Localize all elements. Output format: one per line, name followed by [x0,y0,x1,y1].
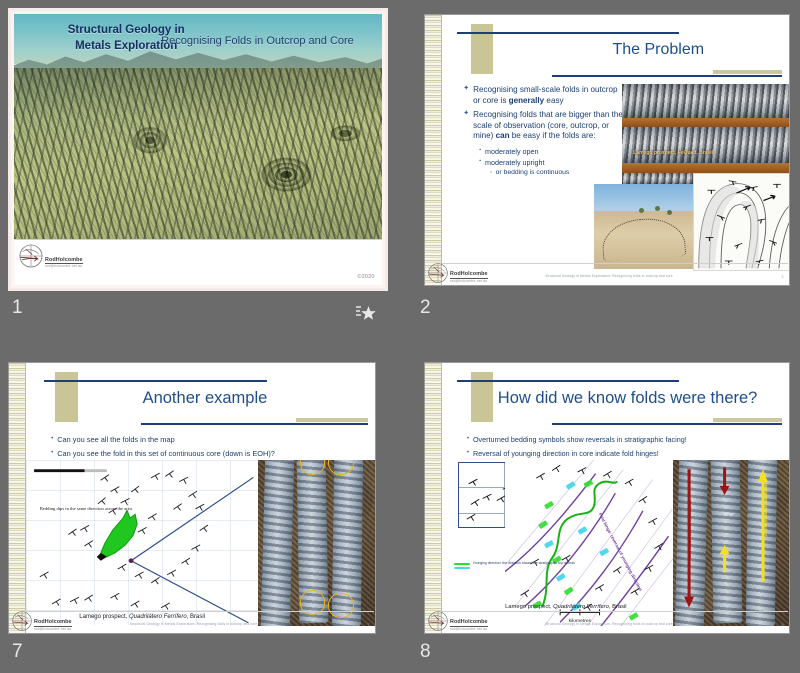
slide-2-content: The Problem ✦ Recognising small-scale fo… [425,15,789,285]
slide-cell-8[interactable]: How did we know folds were there? • Over… [424,362,796,662]
slide-title: The Problem [612,41,704,59]
slide-1-footer: RodHolcombe rod@holcombe.net.au ©2020 [14,239,382,285]
bullet-marker-dot: • [490,169,491,175]
bullet-item: • Can you see the fold in this set of co… [51,449,351,458]
slide-footer-number: 2 [782,275,784,279]
bullet-list: ✦ Recognising small-scale folds in outcr… [463,85,623,176]
bullet-text: moderately open [485,147,539,156]
footer-divider [442,611,788,612]
legend-text: Younging direction: the direction toward… [473,561,584,566]
bullet-text: Overturned bedding symbols show reversal… [473,435,687,444]
core-tray-edge [622,118,789,127]
bullet-item: • or bedding is continuous [490,169,623,176]
rodholcombe-logo: RodHolcombe rod@holcombe.net.au [18,243,83,269]
bullet-text: Recognising folds that are bigger than t… [473,110,623,142]
bullet-marker-square: ▪ [479,147,481,154]
slide-number-8: 8 [420,642,431,661]
slide-sorter-view: Structural Geology in Metals Exploration… [0,0,800,673]
core-photo-caption: Lamego prospect, FeQuad, Brasil [633,150,713,156]
slide-cell-1[interactable]: Structural Geology in Metals Exploration… [8,8,388,328]
folded-strata-ridge [14,68,382,240]
slide-thumbnail-2[interactable]: The Problem ✦ Recognising small-scale fo… [424,14,790,286]
bullet-text: Can you see the fold in this set of cont… [57,449,275,458]
bullet-list: • Can you see all the folds in the map •… [51,435,351,460]
bullet-text: Can you see all the folds in the map [57,435,175,444]
core-tray-row [622,84,789,118]
title-top-rule [44,380,267,382]
slide-cell-2[interactable]: The Problem ✦ Recognising small-scale fo… [424,14,796,328]
drill-core-closeup-photo [258,460,375,626]
bullet-text: Reversal of younging direction in core i… [473,449,659,458]
fold-diagram-svg [694,174,789,270]
slide-title: How did we know folds were there? [498,389,758,408]
logo-author-name: RodHolcombe [450,619,488,626]
bullet-item: • Reversal of younging direction in core… [467,449,773,458]
bullet-marker-dot: • [467,435,469,443]
bullet-item: ▪ moderately open [479,147,623,156]
copyright-notice: ©2020 [357,274,374,280]
core-rod [260,460,294,626]
bullet-text: moderately upright [485,158,545,167]
map-annotation-note: Bedding dips in the same direction acros… [40,506,161,512]
structural-map: Bedding dips in the same direction acros… [26,460,258,625]
outcrop-fold-photo [594,184,692,269]
legend-swatch-cyan [454,567,470,569]
slide-number-7: 7 [12,642,23,661]
title-bottom-tan-rule [713,70,782,74]
drill-core-closeup-photo: stratigraphic younging down-core stratig… [673,460,789,626]
logo-email: rod@holcombe.net.au [450,279,488,283]
slide-8-content: How did we know folds were there? • Over… [425,363,789,633]
stereonet-logo-icon [427,610,449,632]
title-bottom-rule [141,423,368,425]
map-caption-prefix: Lamego prospect, [505,604,553,610]
bullet-text: Recognising small-scale folds in outcrop… [473,85,623,106]
logo-author-name: RodHolcombe [34,619,72,626]
map-caption-region: Quadrilátero Ferrífero [553,604,609,610]
logo-email: rod@holcombe.net.au [45,264,83,268]
core-tray-edge [622,163,789,173]
presentation-subtitle: Recognising Folds in Outcrop and Core [161,34,374,48]
title-top-rule [457,380,679,382]
logo-text: RodHolcombe rod@holcombe.net.au [45,257,83,270]
footer-divider [442,263,788,264]
map-caption-suffix: , Brasil [187,614,205,620]
slide-number-1: 1 [12,298,23,317]
bullet-marker-dot: • [51,449,53,457]
slide-transition-star-icon[interactable] [356,305,376,321]
bullet-marker-dot: • [467,449,469,457]
bullet-marker-diamond: ✦ [463,110,469,119]
stereonet-logo-icon [11,610,33,632]
slide-thumbnail-1[interactable]: Structural Geology in Metals Exploration… [8,8,388,291]
bullet-marker-dot: • [51,435,53,443]
map-caption: Lamego prospect, Quadrilátero Ferrífero,… [505,604,626,610]
left-stripe-decoration [425,363,442,633]
bullet-item: ▪ moderately upright [479,158,623,167]
bullet-marker-square: ▪ [479,158,481,165]
structural-map: kilometres Fold hinge: reversal of young… [505,460,672,626]
slide-thumbnail-8[interactable]: How did we know folds were there? • Over… [424,362,790,634]
logo-author-name: RodHolcombe [45,257,83,264]
map-symbols-svg [26,460,258,625]
slide-cell-7[interactable]: Another example • Can you see all the fo… [8,362,388,662]
fold-map-line-diagram [693,173,789,271]
bullet-list: • Overturned bedding symbols show revers… [467,435,773,460]
bullet-item: ✦ Recognising small-scale folds in outcr… [463,85,623,106]
logo-text: RodHolcombe rod@holcombe.net.au [450,271,488,284]
map-legend: Younging direction: the direction toward… [454,563,512,569]
legend-swatch-green [454,563,470,565]
slide-1-content: Structural Geology in Metals Exploration… [14,14,382,285]
slide-title: Another example [143,389,268,408]
map-caption-prefix: Lamego prospect, [79,614,129,620]
rodholcombe-logo: RodHolcombe rod@holcombe.net.au [11,610,72,632]
logo-text: RodHolcombe rod@holcombe.net.au [34,619,72,632]
slide-7-content: Another example • Can you see all the fo… [9,363,375,633]
stereonet-logo-icon [18,243,44,269]
core-tray-row [622,127,789,163]
map-caption-region: Quadrilátero Ferrífero [129,614,187,620]
rodholcombe-logo: RodHolcombe rod@holcombe.net.au [427,610,488,632]
bullet-item: ✦ Recognising folds that are bigger than… [463,110,623,142]
slide-number-2: 2 [420,298,431,317]
left-stripe-decoration [9,363,26,633]
left-stripe-decoration [425,15,442,285]
slide-footer-number: 8 [782,623,784,627]
bullet-item: • Overturned bedding symbols show revers… [467,435,773,444]
hinge-label: Hinge [724,512,735,516]
logo-email: rod@holcombe.net.au [450,627,488,631]
logo-text: RodHolcombe rod@holcombe.net.au [450,619,488,632]
bullet-text: or bedding is continuous [496,169,570,176]
logo-email: rod@holcombe.net.au [34,627,72,631]
slide-footer-number: 7 [368,623,370,627]
stereonet-logo-icon [427,262,449,284]
map-symbols-svg: kilometres [505,460,672,626]
red-arrow-label: stratigraphic younging down-core [688,500,692,558]
title-bottom-rule [552,423,781,425]
title-bottom-rule [552,75,781,77]
bullet-marker-diamond: ✦ [463,85,469,94]
map-caption-suffix: , Brasil [609,604,627,610]
map-caption: Lamego prospect, Quadrilátero Ferrífero,… [79,614,205,620]
yellow-arrow-label: stratigraphic younging up-core [764,483,768,536]
logo-author-name: RodHolcombe [450,271,488,278]
drill-core-tray-photo: Lamego prospect, FeQuad, Brasil [622,84,789,184]
fold-hinge-annotation-loop [328,593,353,618]
rodholcombe-logo: RodHolcombe rod@holcombe.net.au [427,262,488,284]
slide-thumbnail-7[interactable]: Another example • Can you see all the fo… [8,362,376,634]
title-top-rule [457,32,679,34]
bullet-item: • Can you see all the folds in the map [51,435,351,444]
title-bottom-tan-rule [296,418,367,422]
footer-divider [26,611,374,612]
slide-footer-text: Structural Geology in Metals Exploration… [545,274,673,278]
title-bottom-tan-rule [713,418,782,422]
slide-footer-text: Structural Geology in Metals Exploration… [545,622,673,626]
slide-footer-text: Structural Geology in Metals Exploration… [130,622,258,626]
